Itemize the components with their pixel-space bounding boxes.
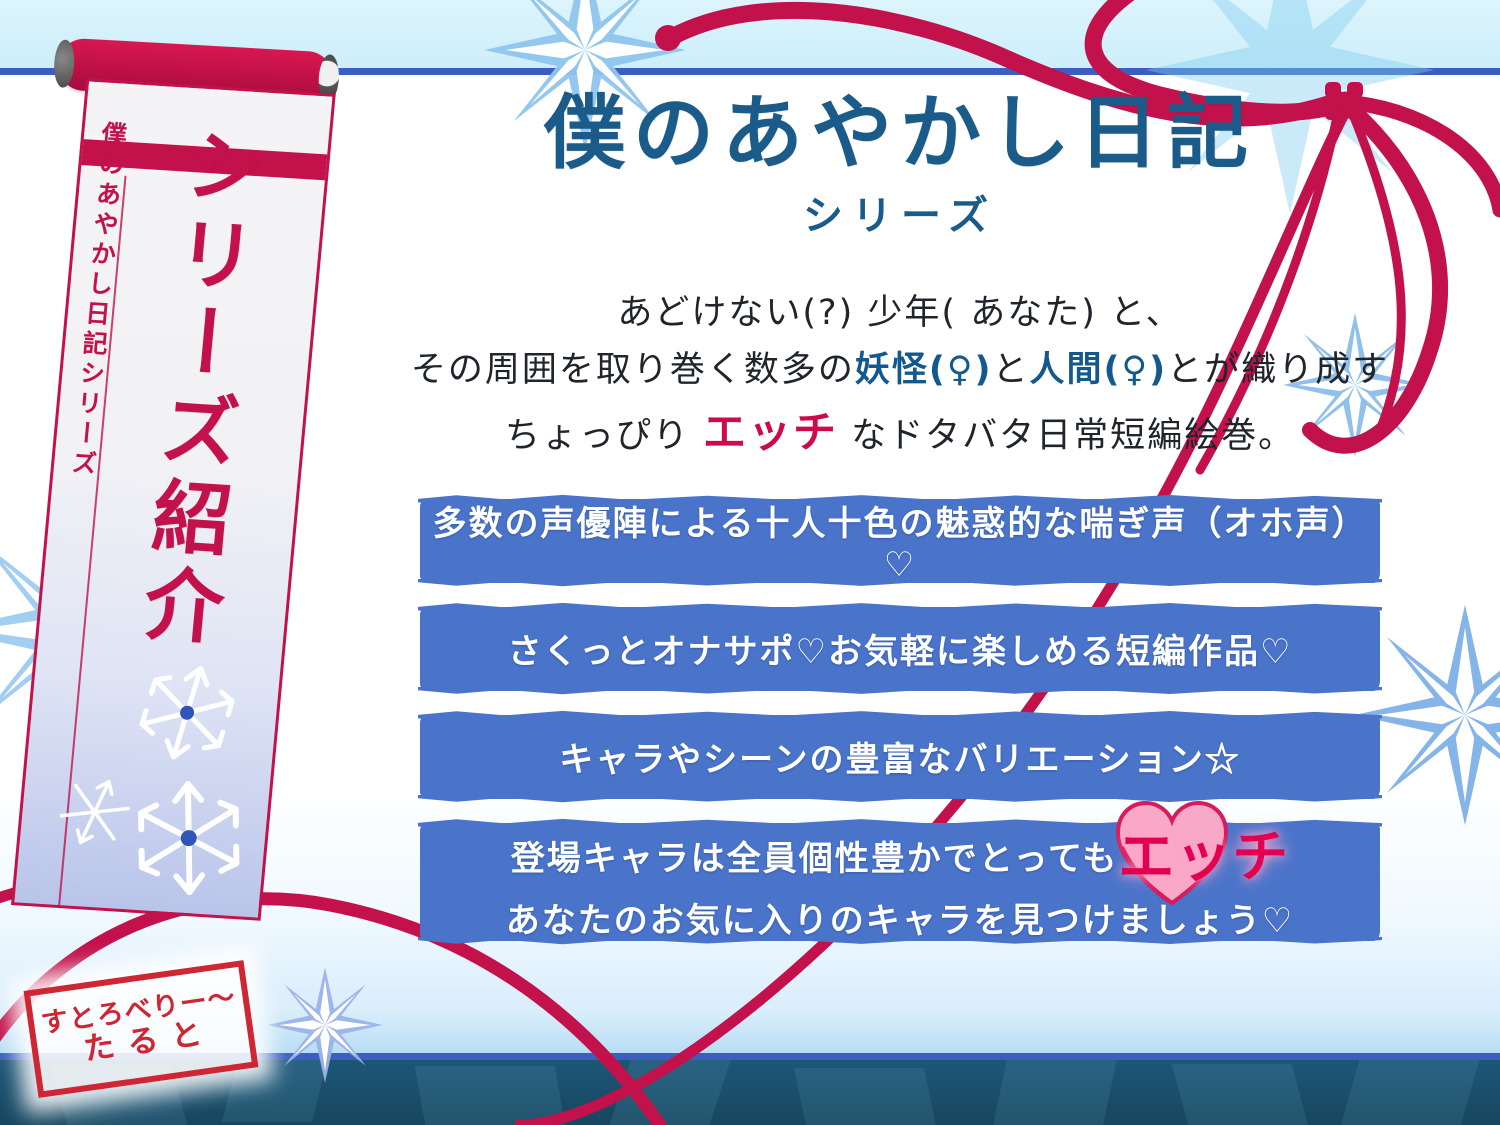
description-highlight-ecchi: エッチ: [703, 408, 838, 458]
page-title-text: 僕のあやかし日記: [544, 86, 1256, 181]
feature-bar-2-text: さくっとオナサポ♡お気軽に楽しめる短編作品♡: [508, 624, 1293, 673]
banner-main-label: シリーズ紹介: [116, 122, 279, 655]
description-line-3-a: ちょっぴり: [505, 416, 703, 456]
feature-bar-1: 多数の声優陣による十人十色の魅惑的な喘ぎ声（オホ声）♡: [420, 499, 1380, 583]
feature-list: 多数の声優陣による十人十色の魅惑的な喘ぎ声（オホ声）♡ さくっとオナサポ♡お気軽…: [360, 499, 1440, 941]
description-line-3: ちょっぴり エッチ なドタバタ日常短編絵巻。: [360, 399, 1440, 469]
feature-bar-3: キャラやシーンの豊富なバリエーション☆: [420, 715, 1380, 799]
description-line-2-c: と: [992, 350, 1029, 390]
page-subtitle: シリーズ: [360, 183, 1440, 241]
description-line-3-c: なドタバタ日常短編絵巻。: [838, 416, 1295, 456]
title-block: 僕のあやかし日記 シリーズ: [360, 90, 1440, 241]
banner-sub-label: 僕のあやかし日記シリーズ: [63, 120, 132, 481]
snowflake-star-icon: [265, 965, 385, 1085]
banner-snowflake-decor: [14, 643, 287, 918]
feature-bar-4-line-1-a: 登場キャラは全員個性豊かでとっても: [511, 839, 1119, 879]
feature-bar-2: さくっとオナサポ♡お気軽に楽しめる短編作品♡: [420, 607, 1380, 691]
description-line-2-e: とが織り成す: [1167, 350, 1389, 390]
feature-bar-4-line-1: 登場キャラは全員個性豊かでとってもエッチ: [511, 818, 1290, 898]
description-line-2: その周囲を取り巻く数多の妖怪(♀)と人間(♀)とが織り成す: [360, 342, 1440, 399]
feature-bar-3-text: キャラやシーンの豊富なバリエーション☆: [559, 732, 1241, 781]
page-title: 僕のあやかし日記: [544, 90, 1256, 177]
series-banner: シリーズ紹介 僕のあやかし日記シリーズ: [28, 20, 358, 930]
poster-canvas: シリーズ紹介 僕のあやかし日記シリーズ すとろべりー～ たると 僕のあやかし日記…: [0, 0, 1500, 1125]
description-block: あどけない(?) 少年( あなた) と、 その周囲を取り巻く数多の妖怪(♀)と人…: [360, 285, 1440, 468]
description-highlight-ningen: 人間(♀): [1030, 350, 1168, 390]
main-content: 僕のあやかし日記 シリーズ あどけない(?) 少年( あなた) と、 その周囲を…: [360, 90, 1440, 965]
feature-bar-4-ecchi: エッチ: [1118, 824, 1289, 890]
description-highlight-youkai: 妖怪(♀): [855, 350, 993, 390]
feature-bar-1-text: 多数の声優陣による十人十色の魅惑的な喘ぎ声（オホ声）♡: [420, 496, 1380, 585]
description-line-2-a: その周囲を取り巻く数多の: [411, 350, 855, 390]
description-line-1-text: あどけない(?) 少年( あなた) と、: [617, 293, 1182, 333]
description-line-1: あどけない(?) 少年( あなた) と、: [360, 285, 1440, 342]
feature-bar-4: 登場キャラは全員個性豊かでとってもエッチ あなたのお気に入りのキャラを見つけまし…: [420, 823, 1380, 941]
banner-paper: シリーズ紹介 僕のあやかし日記シリーズ: [11, 78, 336, 921]
